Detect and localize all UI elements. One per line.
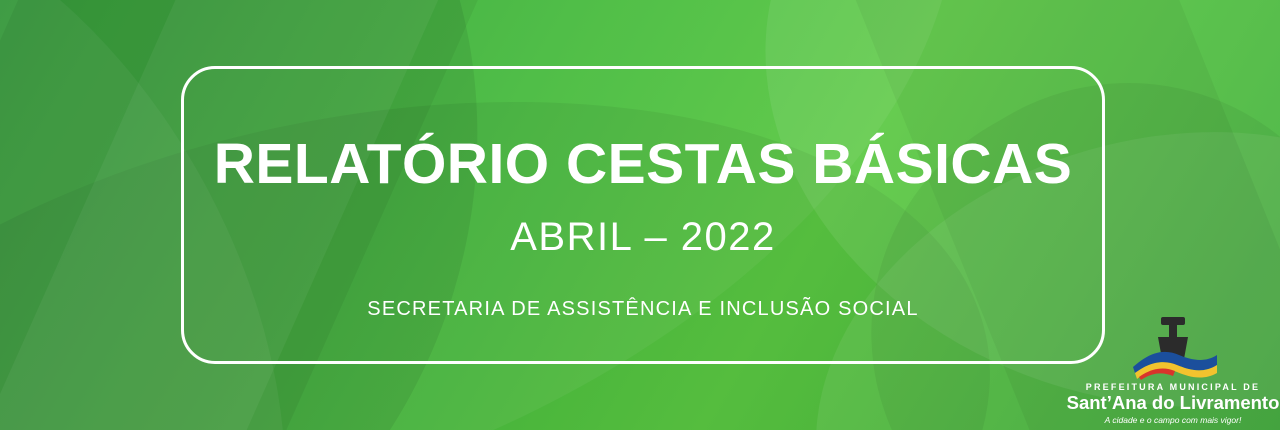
logo-tagline: A cidade e o campo com mais vigor! — [1105, 416, 1242, 425]
report-period-subtitle: ABRIL – 2022 — [510, 217, 776, 257]
title-block: RELATÓRIO CESTAS BÁSICAS ABRIL – 2022 SE… — [181, 66, 1105, 364]
municipal-logo: PREFEITURA MUNICIPAL DE Sant’Ana do Livr… — [1078, 306, 1268, 424]
logo-line-prefecture: PREFEITURA MUNICIPAL DE — [1086, 383, 1260, 392]
report-cover-banner: RELATÓRIO CESTAS BÁSICAS ABRIL – 2022 SE… — [0, 0, 1280, 430]
page-title: RELATÓRIO CESTAS BÁSICAS — [214, 136, 1073, 193]
logo-line-city: Sant’Ana do Livramento — [1067, 394, 1280, 413]
department-name: SECRETARIA DE ASSISTÊNCIA E INCLUSÃO SOC… — [367, 299, 918, 319]
city-hall-crest-icon — [1125, 315, 1221, 381]
